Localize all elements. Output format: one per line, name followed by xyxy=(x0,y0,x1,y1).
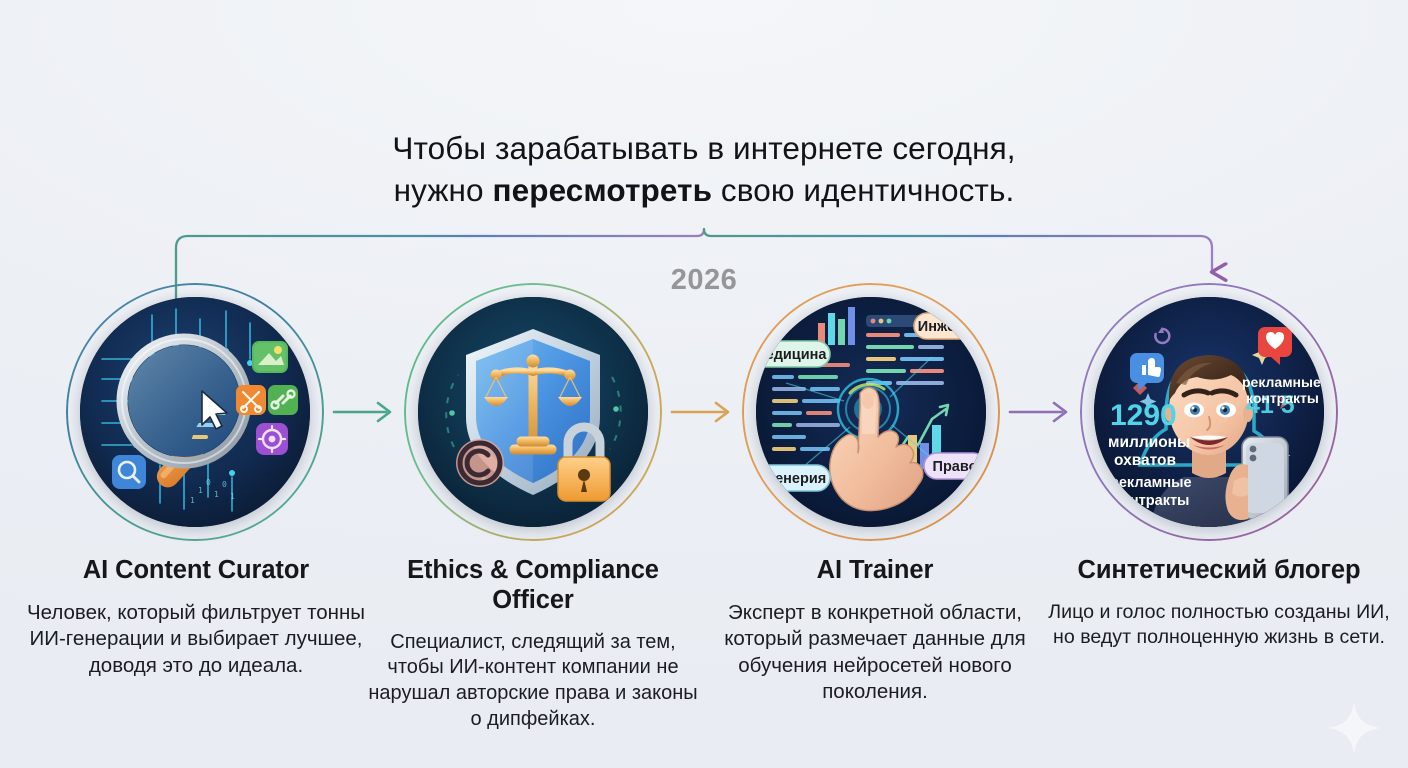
svg-text:1: 1 xyxy=(190,496,195,505)
caption-title: Синтетический блогер xyxy=(1038,556,1400,586)
svg-text:0: 0 xyxy=(222,480,227,489)
image-icon xyxy=(252,341,288,373)
svg-text:0: 0 xyxy=(206,478,211,487)
caption-description: Эксперт в конкретной области, который ра… xyxy=(700,600,1050,706)
node-ai-trainer[interactable]: 101010 011001 110100 010110 xyxy=(742,283,1000,541)
svg-text:1: 1 xyxy=(214,490,219,499)
illustration-ai-avatar-with-phone: 1290 миллионы охватов 41 5 рекламные кон… xyxy=(1094,297,1324,527)
node-ethics-compliance-officer[interactable] xyxy=(404,283,662,541)
page-title: Чтобы зарабатывать в интернете сегодня, … xyxy=(0,128,1408,211)
copyright-icon xyxy=(456,439,504,487)
headline-pre: нужно xyxy=(394,172,493,208)
search-icon xyxy=(112,455,146,489)
headline-post: свою идентичность. xyxy=(712,172,1014,208)
ad-contracts-right-line2: контракты xyxy=(1246,390,1319,406)
caption-description: Лицо и голос полностью созданы ИИ, но ве… xyxy=(1038,600,1400,651)
infographic-canvas: Чтобы зарабатывать в интернете сегодня, … xyxy=(0,0,1408,768)
caption-title: AI Content Curator xyxy=(10,556,382,586)
caption-ai-trainer: AI Trainer Эксперт в конкретной области,… xyxy=(700,556,1050,706)
headline-line-1: Чтобы зарабатывать в интернете сегодня, xyxy=(0,128,1408,170)
illustration-hand-tapping-data: 101010 011001 110100 010110 xyxy=(756,297,986,527)
node-ai-content-curator[interactable]: 10 10 11 xyxy=(66,283,324,541)
node-row: 10 10 11 xyxy=(0,283,1408,541)
node-synthetic-blogger[interactable]: 1290 миллионы охватов 41 5 рекламные кон… xyxy=(1080,283,1338,541)
ad-contracts-left-line1: рекламные xyxy=(1110,475,1192,491)
scissors-icon xyxy=(236,385,266,415)
caption-description: Человек, который фильтрует тонны ИИ-гене… xyxy=(10,600,382,679)
reach-label-line1: миллионы xyxy=(1108,434,1190,451)
illustration-magnifier-over-code: 10 10 11 xyxy=(80,297,310,527)
link-icon xyxy=(268,385,298,415)
caption-title: Ethics & Compliance Officer xyxy=(368,556,698,616)
caption-synthetic-blogger: Синтетический блогер Лицо и голос полнос… xyxy=(1038,556,1400,650)
caption-ai-content-curator: AI Content Curator Человек, который филь… xyxy=(10,556,382,679)
svg-text:1: 1 xyxy=(198,486,203,495)
sparkle-watermark xyxy=(1326,700,1382,756)
svg-text:1: 1 xyxy=(230,492,235,501)
gear-icon xyxy=(256,423,288,455)
headline-emphasis: пересмотреть xyxy=(493,172,713,208)
ad-contracts-right-line1: рекламные xyxy=(1242,374,1321,390)
headline-line-2: нужно пересмотреть свою идентичность. xyxy=(0,170,1408,212)
reach-label-line2: охватов xyxy=(1114,452,1176,469)
reach-number: 1290 xyxy=(1110,399,1177,432)
caption-title: AI Trainer xyxy=(700,556,1050,586)
caption-description: Специалист, следящий за тем, чтобы ИИ-ко… xyxy=(368,630,698,733)
caption-ethics-compliance-officer: Ethics & Compliance Officer Специалист, … xyxy=(368,556,698,733)
illustration-shield-scales-lock xyxy=(418,297,648,527)
